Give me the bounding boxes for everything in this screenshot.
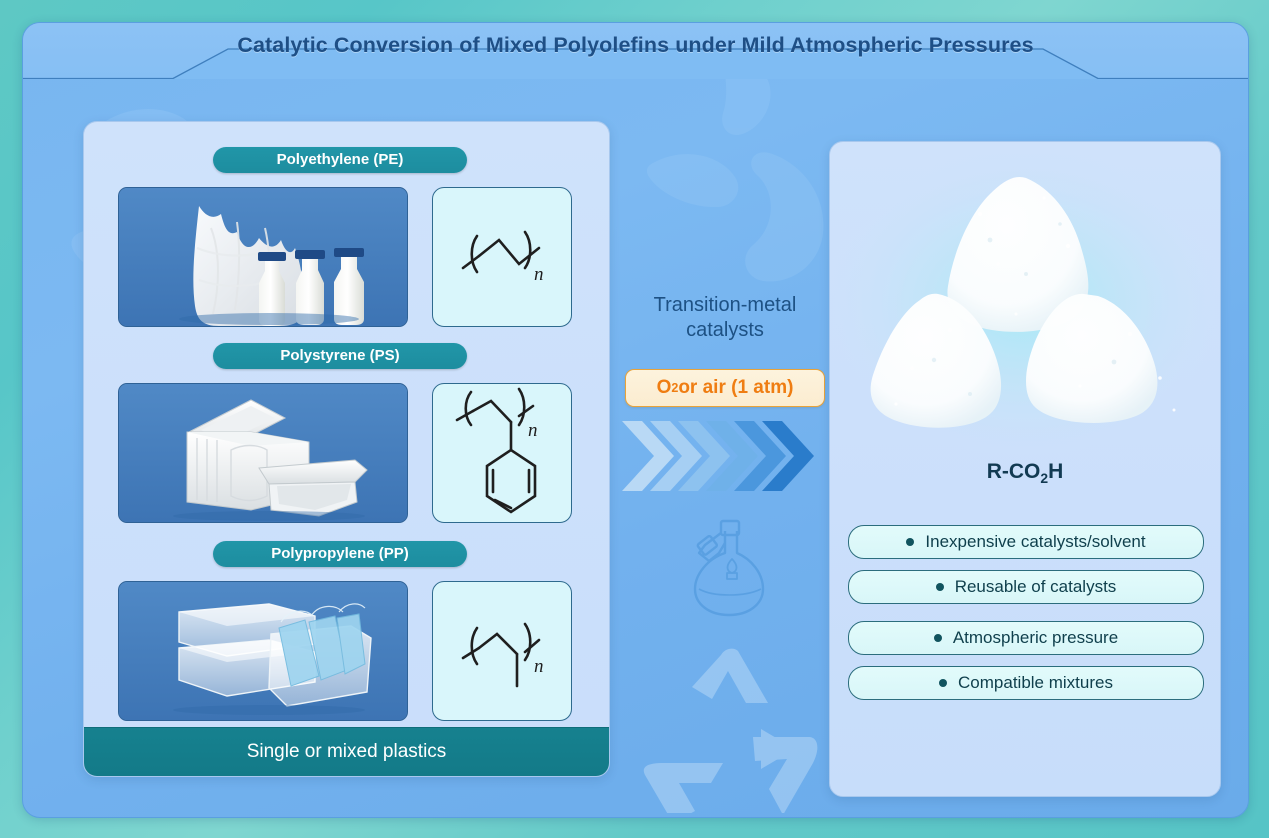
round-bottom-flask-icon: [677, 509, 787, 619]
feature-label: Compatible mixtures: [958, 673, 1113, 693]
label-polyethylene: Polyethylene (PE): [213, 147, 467, 173]
product-suffix: H: [1048, 460, 1063, 483]
feature-item-1: Inexpensive catalysts/solvent: [848, 525, 1204, 559]
label-polystyrene: Polystyrene (PS): [213, 343, 467, 369]
repeat-unit-n: n: [528, 420, 538, 441]
product-prefix: R-CO: [987, 460, 1041, 483]
feedstock-card: Polyethylene (PE): [83, 121, 610, 777]
graphical-abstract: Catalytic Conversion of Mixed Polyolefin…: [0, 0, 1269, 838]
styrofoam-box-and-container-photo: [118, 383, 408, 523]
title-banner: Catalytic Conversion of Mixed Polyolefin…: [23, 23, 1248, 79]
catalyst-label: Transition-metal catalysts: [615, 293, 835, 343]
plastic-containers-and-masks-photo: [118, 581, 408, 721]
repeat-unit-n: n: [534, 656, 544, 677]
bullet-dot: [939, 679, 947, 687]
feature-label: Inexpensive catalysts/solvent: [925, 532, 1145, 552]
catalyst-line-2: catalysts: [615, 318, 835, 343]
reaction-conditions: Transition-metal catalysts O2 or air (1 …: [615, 121, 835, 775]
reaction-arrow-chevrons: [620, 419, 830, 493]
oxidant-prefix: O: [657, 377, 672, 399]
white-powder-product-photo: [830, 154, 1220, 454]
polypropylene-structure: n: [432, 581, 572, 721]
bullet-dot: [906, 538, 914, 546]
feature-item-3: Atmospheric pressure: [848, 621, 1204, 655]
bullet-dot: [936, 583, 944, 591]
product-subscript: 2: [1040, 470, 1048, 486]
repeat-unit-n: n: [534, 264, 544, 285]
feature-item-2: Reusable of catalysts: [848, 570, 1204, 604]
bullet-dot: [934, 634, 942, 642]
feature-item-4: Compatible mixtures: [848, 666, 1204, 700]
feature-label: Atmospheric pressure: [953, 628, 1118, 648]
products-card: R-CO2H Inexpensive catalysts/solvent Reu…: [829, 141, 1221, 797]
feedstock-footer: Single or mixed plastics: [84, 727, 609, 776]
oxidant-subscript: 2: [671, 381, 678, 395]
label-polypropylene: Polypropylene (PP): [213, 541, 467, 567]
polystyrene-structure: n: [432, 383, 572, 523]
main-panel: Catalytic Conversion of Mixed Polyolefin…: [22, 22, 1249, 818]
page-title: Catalytic Conversion of Mixed Polyolefin…: [23, 33, 1248, 58]
catalyst-line-1: Transition-metal: [615, 293, 835, 318]
polyethylene-structure: n: [432, 187, 572, 327]
oxidant-badge: O2 or air (1 atm): [625, 369, 825, 407]
oxidant-suffix: or air (1 atm): [678, 377, 793, 399]
plastic-bag-and-bottles-photo: [118, 187, 408, 327]
product-formula: R-CO2H: [830, 460, 1220, 486]
feature-label: Reusable of catalysts: [955, 577, 1117, 597]
